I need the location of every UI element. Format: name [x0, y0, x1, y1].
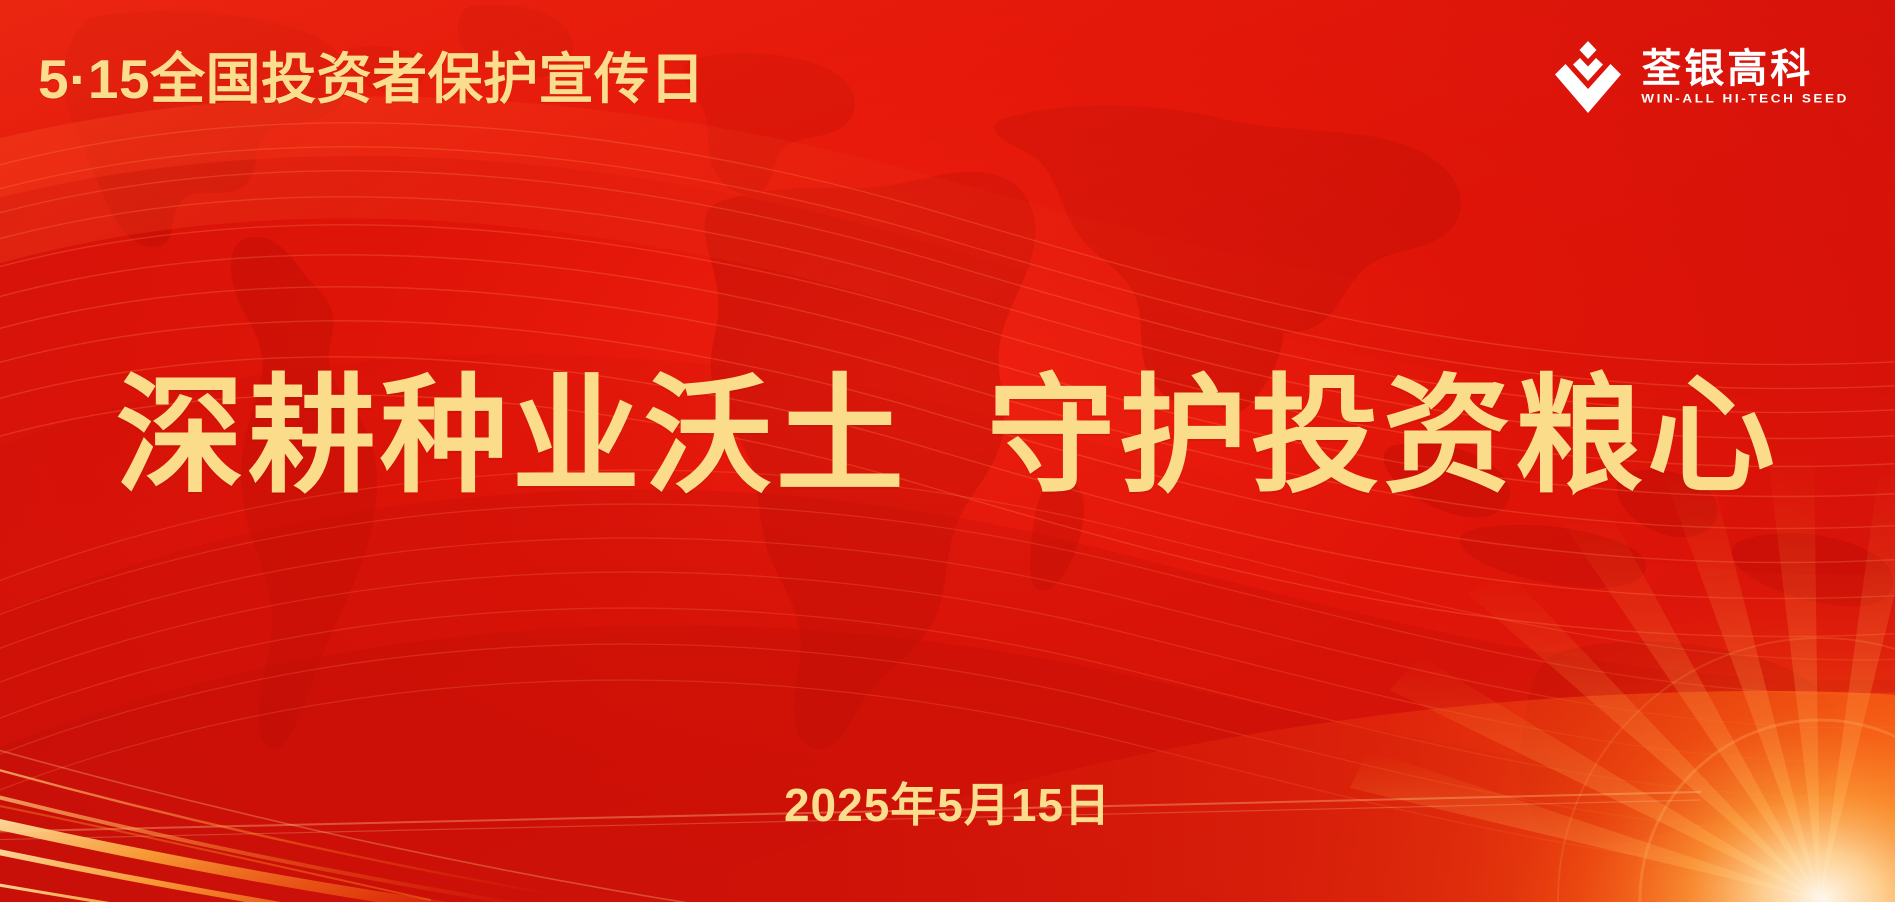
date-area: 2025年5月15日	[0, 782, 1895, 828]
win-all-seedling-chevron-mark	[1555, 41, 1621, 113]
banner-header: 5·15全国投资者保护宣传日 荃银高科 WIN-ALL HI-TECH SEED	[0, 0, 1895, 150]
promotional-banner: 5·15全国投资者保护宣传日 荃银高科 WIN-ALL HI-TECH SEED…	[0, 0, 1895, 902]
campaign-eyebrow-text: 5·15全国投资者保护宣传日	[38, 44, 705, 107]
company-logo: 荃银高科 WIN-ALL HI-TECH SEED	[1555, 37, 1849, 113]
logo-name-cn: 荃银高科	[1641, 49, 1849, 89]
event-date: 2025年5月15日	[784, 782, 1111, 828]
logo-name-en: WIN-ALL HI-TECH SEED	[1641, 92, 1849, 104]
logo-wordmark: 荃银高科 WIN-ALL HI-TECH SEED	[1641, 49, 1849, 106]
main-slogan: 深耕种业沃土 守护投资粮心	[116, 370, 1779, 504]
